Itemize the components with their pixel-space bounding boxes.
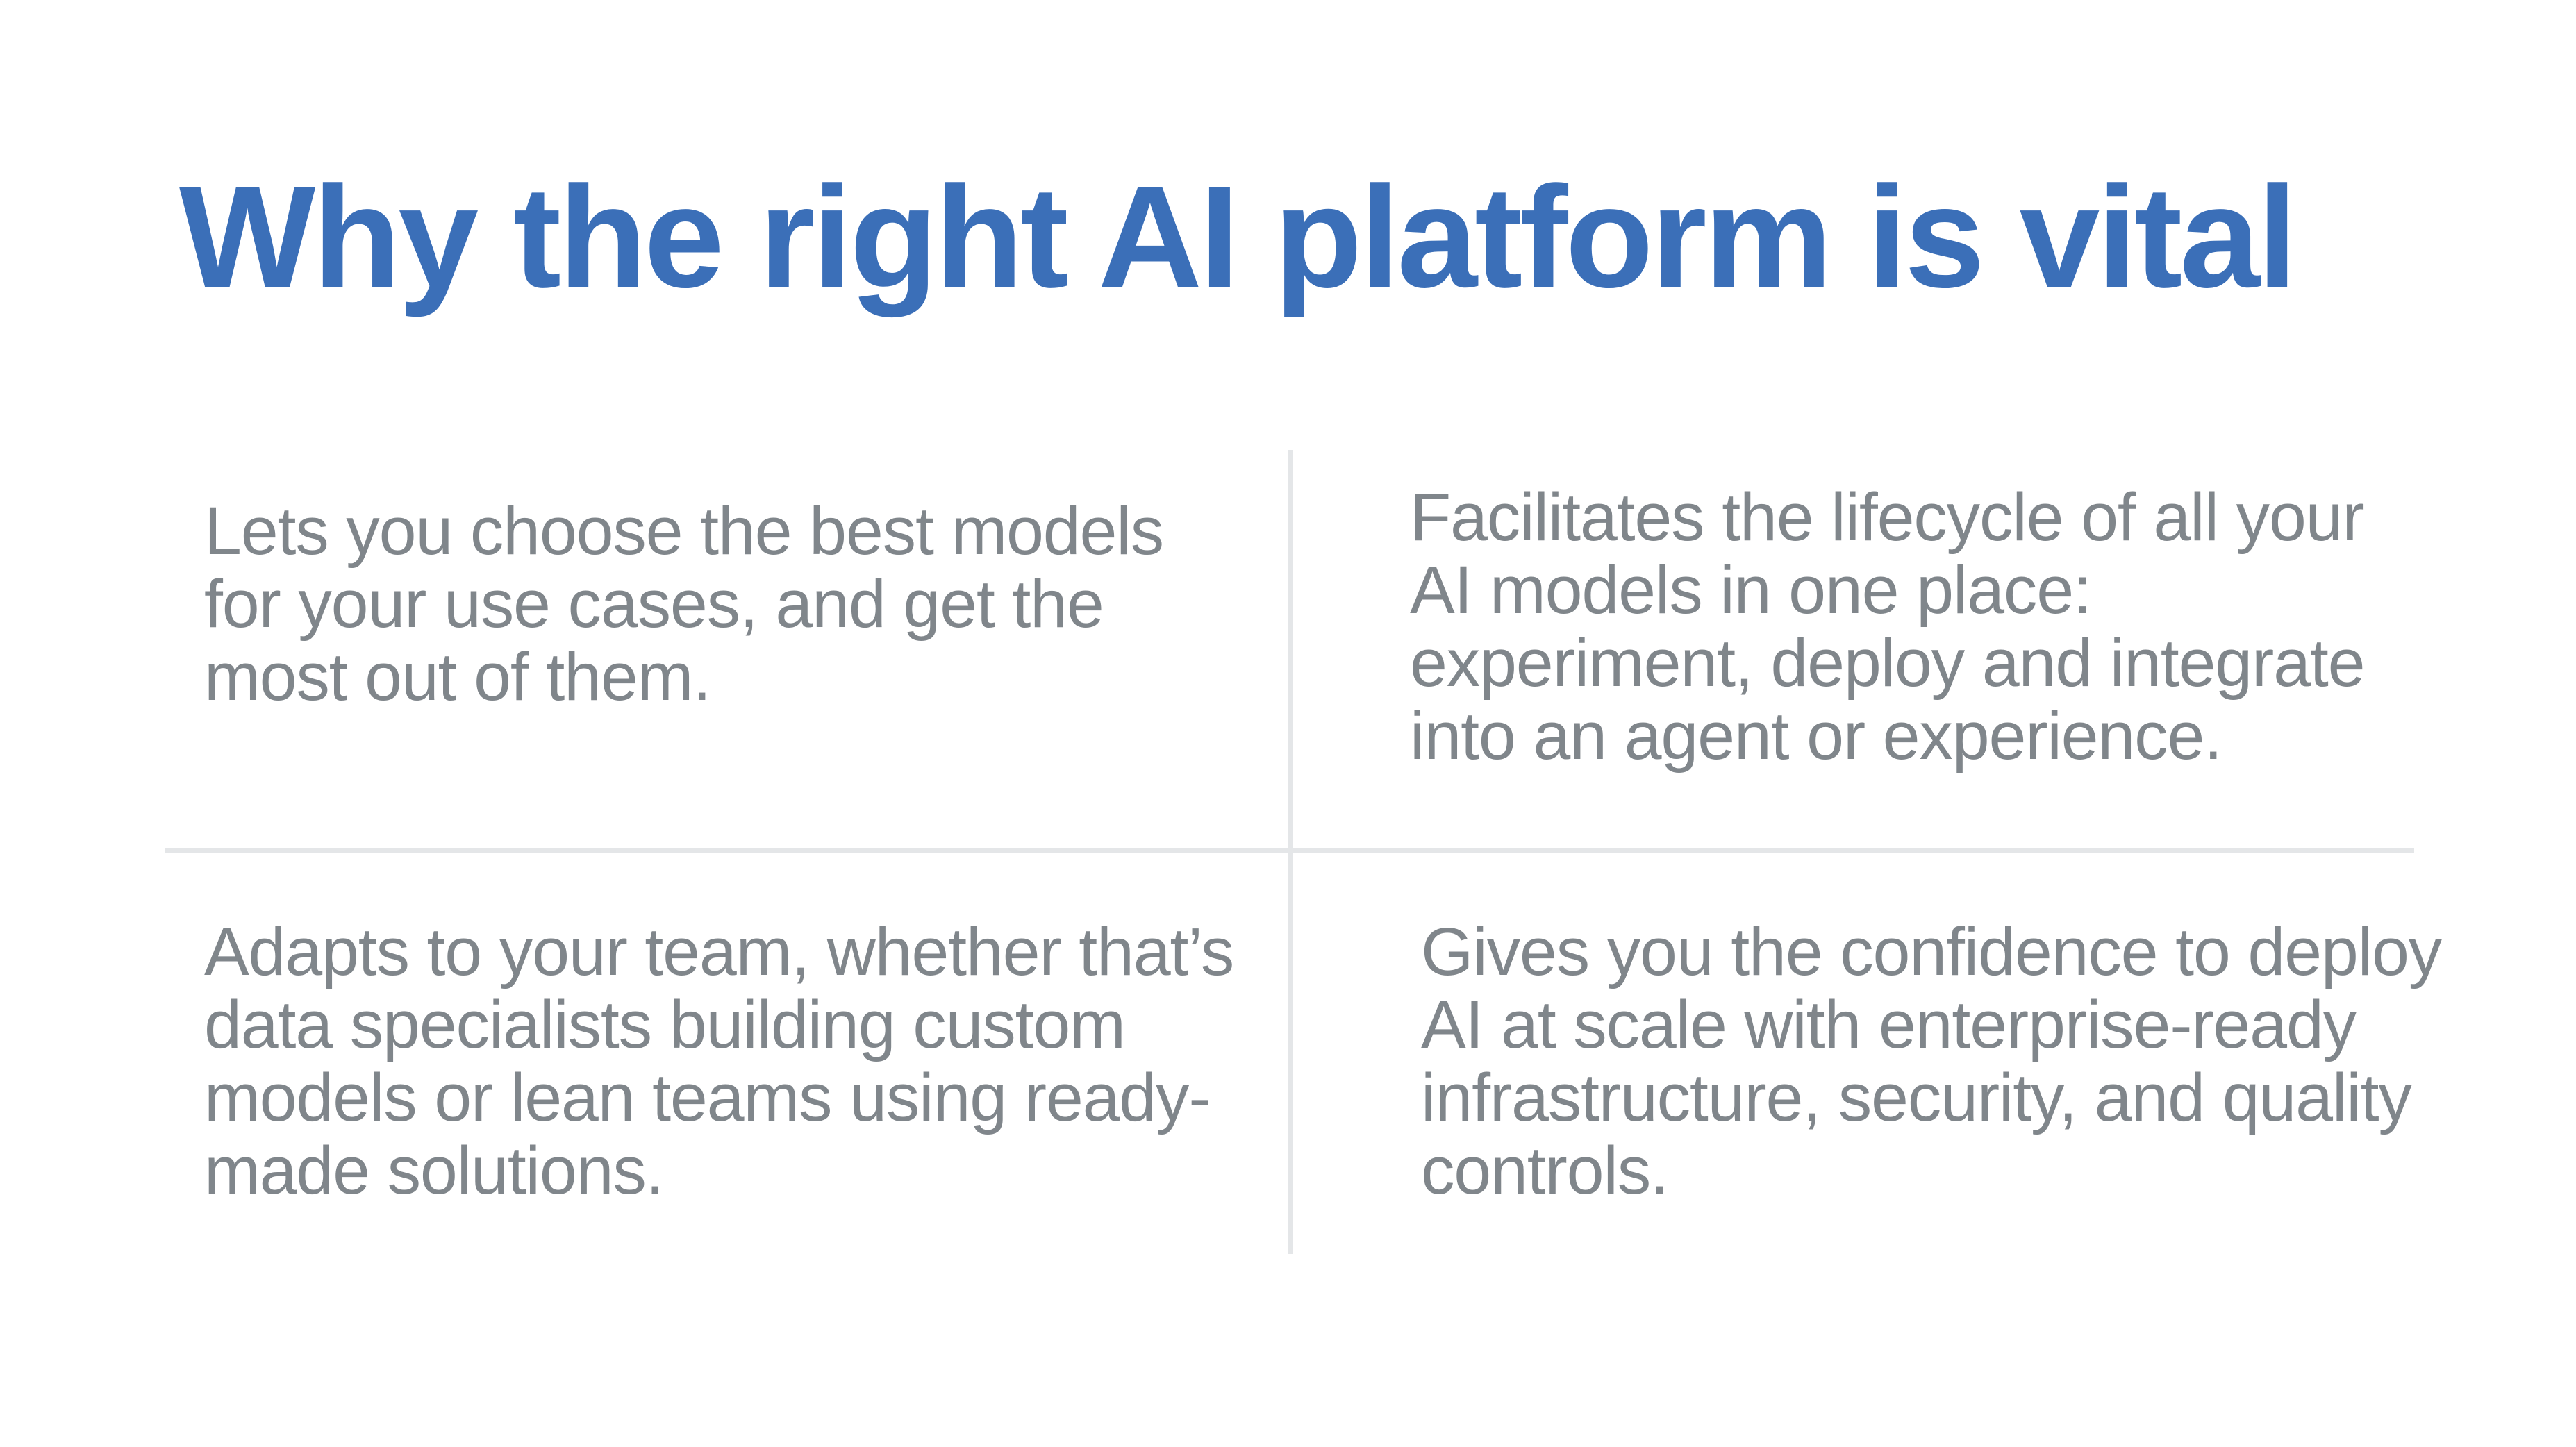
presentation-slide: Why the right AI platform is vital Lets … [0, 0, 2576, 1447]
quadrant-top-left-text: Lets you choose the best models for your… [204, 494, 1190, 713]
quadrant-bottom-right: Gives you the confidence to deploy AI at… [1421, 915, 2449, 1207]
quadrant-bottom-left: Adapts to your team, whether that’s data… [204, 915, 1260, 1207]
quadrant-grid: Lets you choose the best models for your… [0, 0, 2576, 1447]
horizontal-divider [165, 848, 2414, 853]
quadrant-bottom-left-text: Adapts to your team, whether that’s data… [204, 915, 1260, 1207]
quadrant-bottom-right-text: Gives you the confidence to deploy AI at… [1421, 915, 2449, 1207]
quadrant-top-right-text: Facilitates the lifecycle of all your AI… [1410, 480, 2438, 772]
quadrant-top-left: Lets you choose the best models for your… [204, 494, 1190, 713]
quadrant-top-right: Facilitates the lifecycle of all your AI… [1410, 480, 2438, 772]
